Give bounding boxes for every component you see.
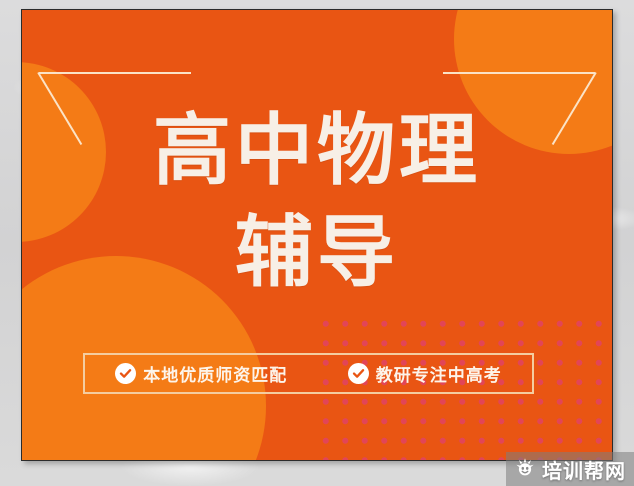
site-watermark: 培训帮网: [506, 452, 634, 486]
check-circle-icon: [348, 363, 369, 384]
headline-line-secondary: 辅导: [22, 214, 612, 292]
feature-label: 本地优质师资匹配: [143, 361, 287, 386]
ornament-horizontal-line: [443, 72, 595, 74]
poster-headline: 高中物理 辅导: [22, 112, 612, 292]
page-backdrop: 高中物理 辅导 本地优质师资匹配 教研专注中高考: [0, 0, 634, 486]
feature-badge-bar: 本地优质师资匹配 教研专注中高考: [83, 353, 534, 394]
poster-card: 高中物理 辅导 本地优质师资匹配 教研专注中高考: [21, 9, 613, 461]
feature-item-1: 本地优质师资匹配: [115, 361, 287, 386]
watermark-text: 培训帮网: [542, 455, 626, 484]
check-circle-icon: [115, 363, 136, 384]
feature-label: 教研专注中高考: [376, 361, 502, 386]
feature-item-2: 教研专注中高考: [348, 361, 502, 386]
ornament-horizontal-line: [39, 72, 191, 74]
headline-line-primary: 高中物理: [22, 112, 612, 190]
sun-face-logo-icon: [514, 456, 536, 483]
